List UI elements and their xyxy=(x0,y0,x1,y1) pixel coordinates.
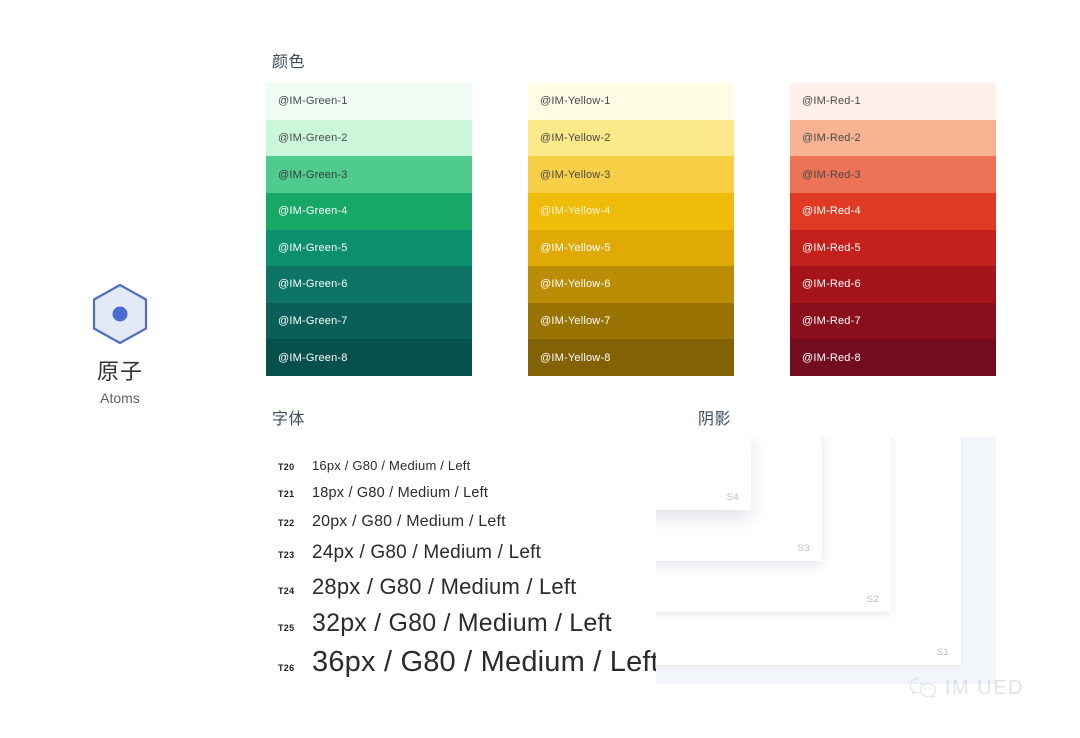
color-swatch-label: @IM-Green-1 xyxy=(278,95,348,107)
color-swatch-label: @IM-Yellow-4 xyxy=(540,205,611,217)
color-swatch-yellow-6[interactable]: @IM-Yellow-6 xyxy=(528,266,734,303)
design-system-board: 原子 Atoms 颜色 字体 阴影 @IM-Green-1@IM-Green-2… xyxy=(0,0,1080,738)
typography-row-t24: T2428px / G80 / Medium / Left xyxy=(278,574,678,600)
color-swatch-label: @IM-Red-8 xyxy=(802,352,861,364)
color-palette-red: @IM-Red-1@IM-Red-2@IM-Red-3@IM-Red-4@IM-… xyxy=(790,83,996,376)
color-swatch-label: @IM-Yellow-6 xyxy=(540,278,611,290)
shadow-card-s4: S4 xyxy=(656,437,751,510)
typography-row-t20: T2016px / G80 / Medium / Left xyxy=(278,458,678,473)
color-swatch-label: @IM-Red-4 xyxy=(802,205,861,217)
shadow-card-label: S2 xyxy=(867,594,879,605)
color-swatch-label: @IM-Red-2 xyxy=(802,132,861,144)
color-swatch-label: @IM-Green-6 xyxy=(278,278,348,290)
color-swatch-label: @IM-Green-3 xyxy=(278,169,348,181)
color-swatch-green-4[interactable]: @IM-Green-4 xyxy=(266,193,472,230)
color-palette-yellow: @IM-Yellow-1@IM-Yellow-2@IM-Yellow-3@IM-… xyxy=(528,83,734,376)
color-swatch-yellow-7[interactable]: @IM-Yellow-7 xyxy=(528,303,734,340)
shadow-card-label: S4 xyxy=(727,492,739,503)
typography-sample-text: 36px / G80 / Medium / Left xyxy=(312,646,659,679)
color-swatch-green-2[interactable]: @IM-Green-2 xyxy=(266,120,472,157)
color-swatch-red-1[interactable]: @IM-Red-1 xyxy=(790,83,996,120)
color-swatch-yellow-5[interactable]: @IM-Yellow-5 xyxy=(528,230,734,267)
shadow-showcase-panel: S1 S2 S3 S4 xyxy=(656,437,996,684)
color-swatch-green-8[interactable]: @IM-Green-8 xyxy=(266,339,472,376)
typography-token-label: T21 xyxy=(278,490,312,499)
color-swatch-red-5[interactable]: @IM-Red-5 xyxy=(790,230,996,267)
color-swatch-green-1[interactable]: @IM-Green-1 xyxy=(266,83,472,120)
shadow-card-label: S3 xyxy=(798,543,810,554)
typography-token-label: T23 xyxy=(278,551,312,560)
typography-token-label: T24 xyxy=(278,587,312,596)
watermark: IM UED xyxy=(908,676,1024,700)
wechat-icon xyxy=(908,676,938,700)
color-swatch-label: @IM-Green-5 xyxy=(278,242,348,254)
color-swatch-yellow-1[interactable]: @IM-Yellow-1 xyxy=(528,83,734,120)
color-swatch-label: @IM-Yellow-7 xyxy=(540,315,611,327)
shadow-card-label: S1 xyxy=(937,647,949,658)
color-swatch-label: @IM-Yellow-2 xyxy=(540,132,611,144)
section-title-typography: 字体 xyxy=(272,409,305,431)
category-name-en: Atoms xyxy=(76,389,164,407)
typography-token-label: T25 xyxy=(278,624,312,633)
color-swatch-red-2[interactable]: @IM-Red-2 xyxy=(790,120,996,157)
typography-sample-text: 32px / G80 / Medium / Left xyxy=(312,609,612,638)
typography-sample-text: 16px / G80 / Medium / Left xyxy=(312,458,470,473)
typography-row-t26: T2636px / G80 / Medium / Left xyxy=(278,646,678,679)
hexagon-atom-icon xyxy=(90,282,150,346)
typography-row-t23: T2324px / G80 / Medium / Left xyxy=(278,542,678,564)
color-swatch-yellow-8[interactable]: @IM-Yellow-8 xyxy=(528,339,734,376)
color-swatch-red-7[interactable]: @IM-Red-7 xyxy=(790,303,996,340)
typography-row-t21: T2118px / G80 / Medium / Left xyxy=(278,485,678,501)
color-swatch-green-3[interactable]: @IM-Green-3 xyxy=(266,156,472,193)
color-palette-green: @IM-Green-1@IM-Green-2@IM-Green-3@IM-Gre… xyxy=(266,83,472,376)
color-swatch-green-7[interactable]: @IM-Green-7 xyxy=(266,303,472,340)
typography-token-label: T20 xyxy=(278,463,312,472)
color-swatch-red-8[interactable]: @IM-Red-8 xyxy=(790,339,996,376)
typography-row-t25: T2532px / G80 / Medium / Left xyxy=(278,609,678,638)
color-swatch-label: @IM-Red-3 xyxy=(802,169,861,181)
color-swatch-label: @IM-Red-5 xyxy=(802,242,861,254)
watermark-text: IM UED xyxy=(945,678,1024,698)
color-swatch-yellow-3[interactable]: @IM-Yellow-3 xyxy=(528,156,734,193)
typography-token-label: T22 xyxy=(278,519,312,528)
color-swatch-label: @IM-Green-7 xyxy=(278,315,348,327)
color-swatch-red-3[interactable]: @IM-Red-3 xyxy=(790,156,996,193)
category-name-cn: 原子 xyxy=(76,358,164,386)
color-swatch-label: @IM-Green-2 xyxy=(278,132,348,144)
color-swatch-label: @IM-Red-6 xyxy=(802,278,861,290)
color-swatch-label: @IM-Green-8 xyxy=(278,352,348,364)
color-swatch-label: @IM-Yellow-1 xyxy=(540,95,611,107)
typography-token-label: T26 xyxy=(278,664,312,673)
color-swatch-label: @IM-Green-4 xyxy=(278,205,348,217)
color-swatch-red-4[interactable]: @IM-Red-4 xyxy=(790,193,996,230)
section-title-colors: 颜色 xyxy=(272,52,305,74)
color-swatch-red-6[interactable]: @IM-Red-6 xyxy=(790,266,996,303)
typography-sample-text: 24px / G80 / Medium / Left xyxy=(312,542,541,564)
color-swatch-green-6[interactable]: @IM-Green-6 xyxy=(266,266,472,303)
color-swatch-label: @IM-Red-1 xyxy=(802,95,861,107)
typography-sample-text: 28px / G80 / Medium / Left xyxy=(312,574,576,600)
category-atoms: 原子 Atoms xyxy=(76,282,164,407)
color-swatch-yellow-4[interactable]: @IM-Yellow-4 xyxy=(528,193,734,230)
section-title-shadow: 阴影 xyxy=(698,409,731,431)
typography-sample-text: 20px / G80 / Medium / Left xyxy=(312,513,506,531)
color-swatch-label: @IM-Yellow-8 xyxy=(540,352,611,364)
color-swatch-yellow-2[interactable]: @IM-Yellow-2 xyxy=(528,120,734,157)
color-swatch-green-5[interactable]: @IM-Green-5 xyxy=(266,230,472,267)
typography-scale: T2016px / G80 / Medium / LeftT2118px / G… xyxy=(278,458,678,685)
typography-sample-text: 18px / G80 / Medium / Left xyxy=(312,485,488,501)
color-swatch-label: @IM-Yellow-3 xyxy=(540,169,611,181)
color-swatch-label: @IM-Red-7 xyxy=(802,315,861,327)
typography-row-t22: T2220px / G80 / Medium / Left xyxy=(278,513,678,531)
color-swatch-label: @IM-Yellow-5 xyxy=(540,242,611,254)
